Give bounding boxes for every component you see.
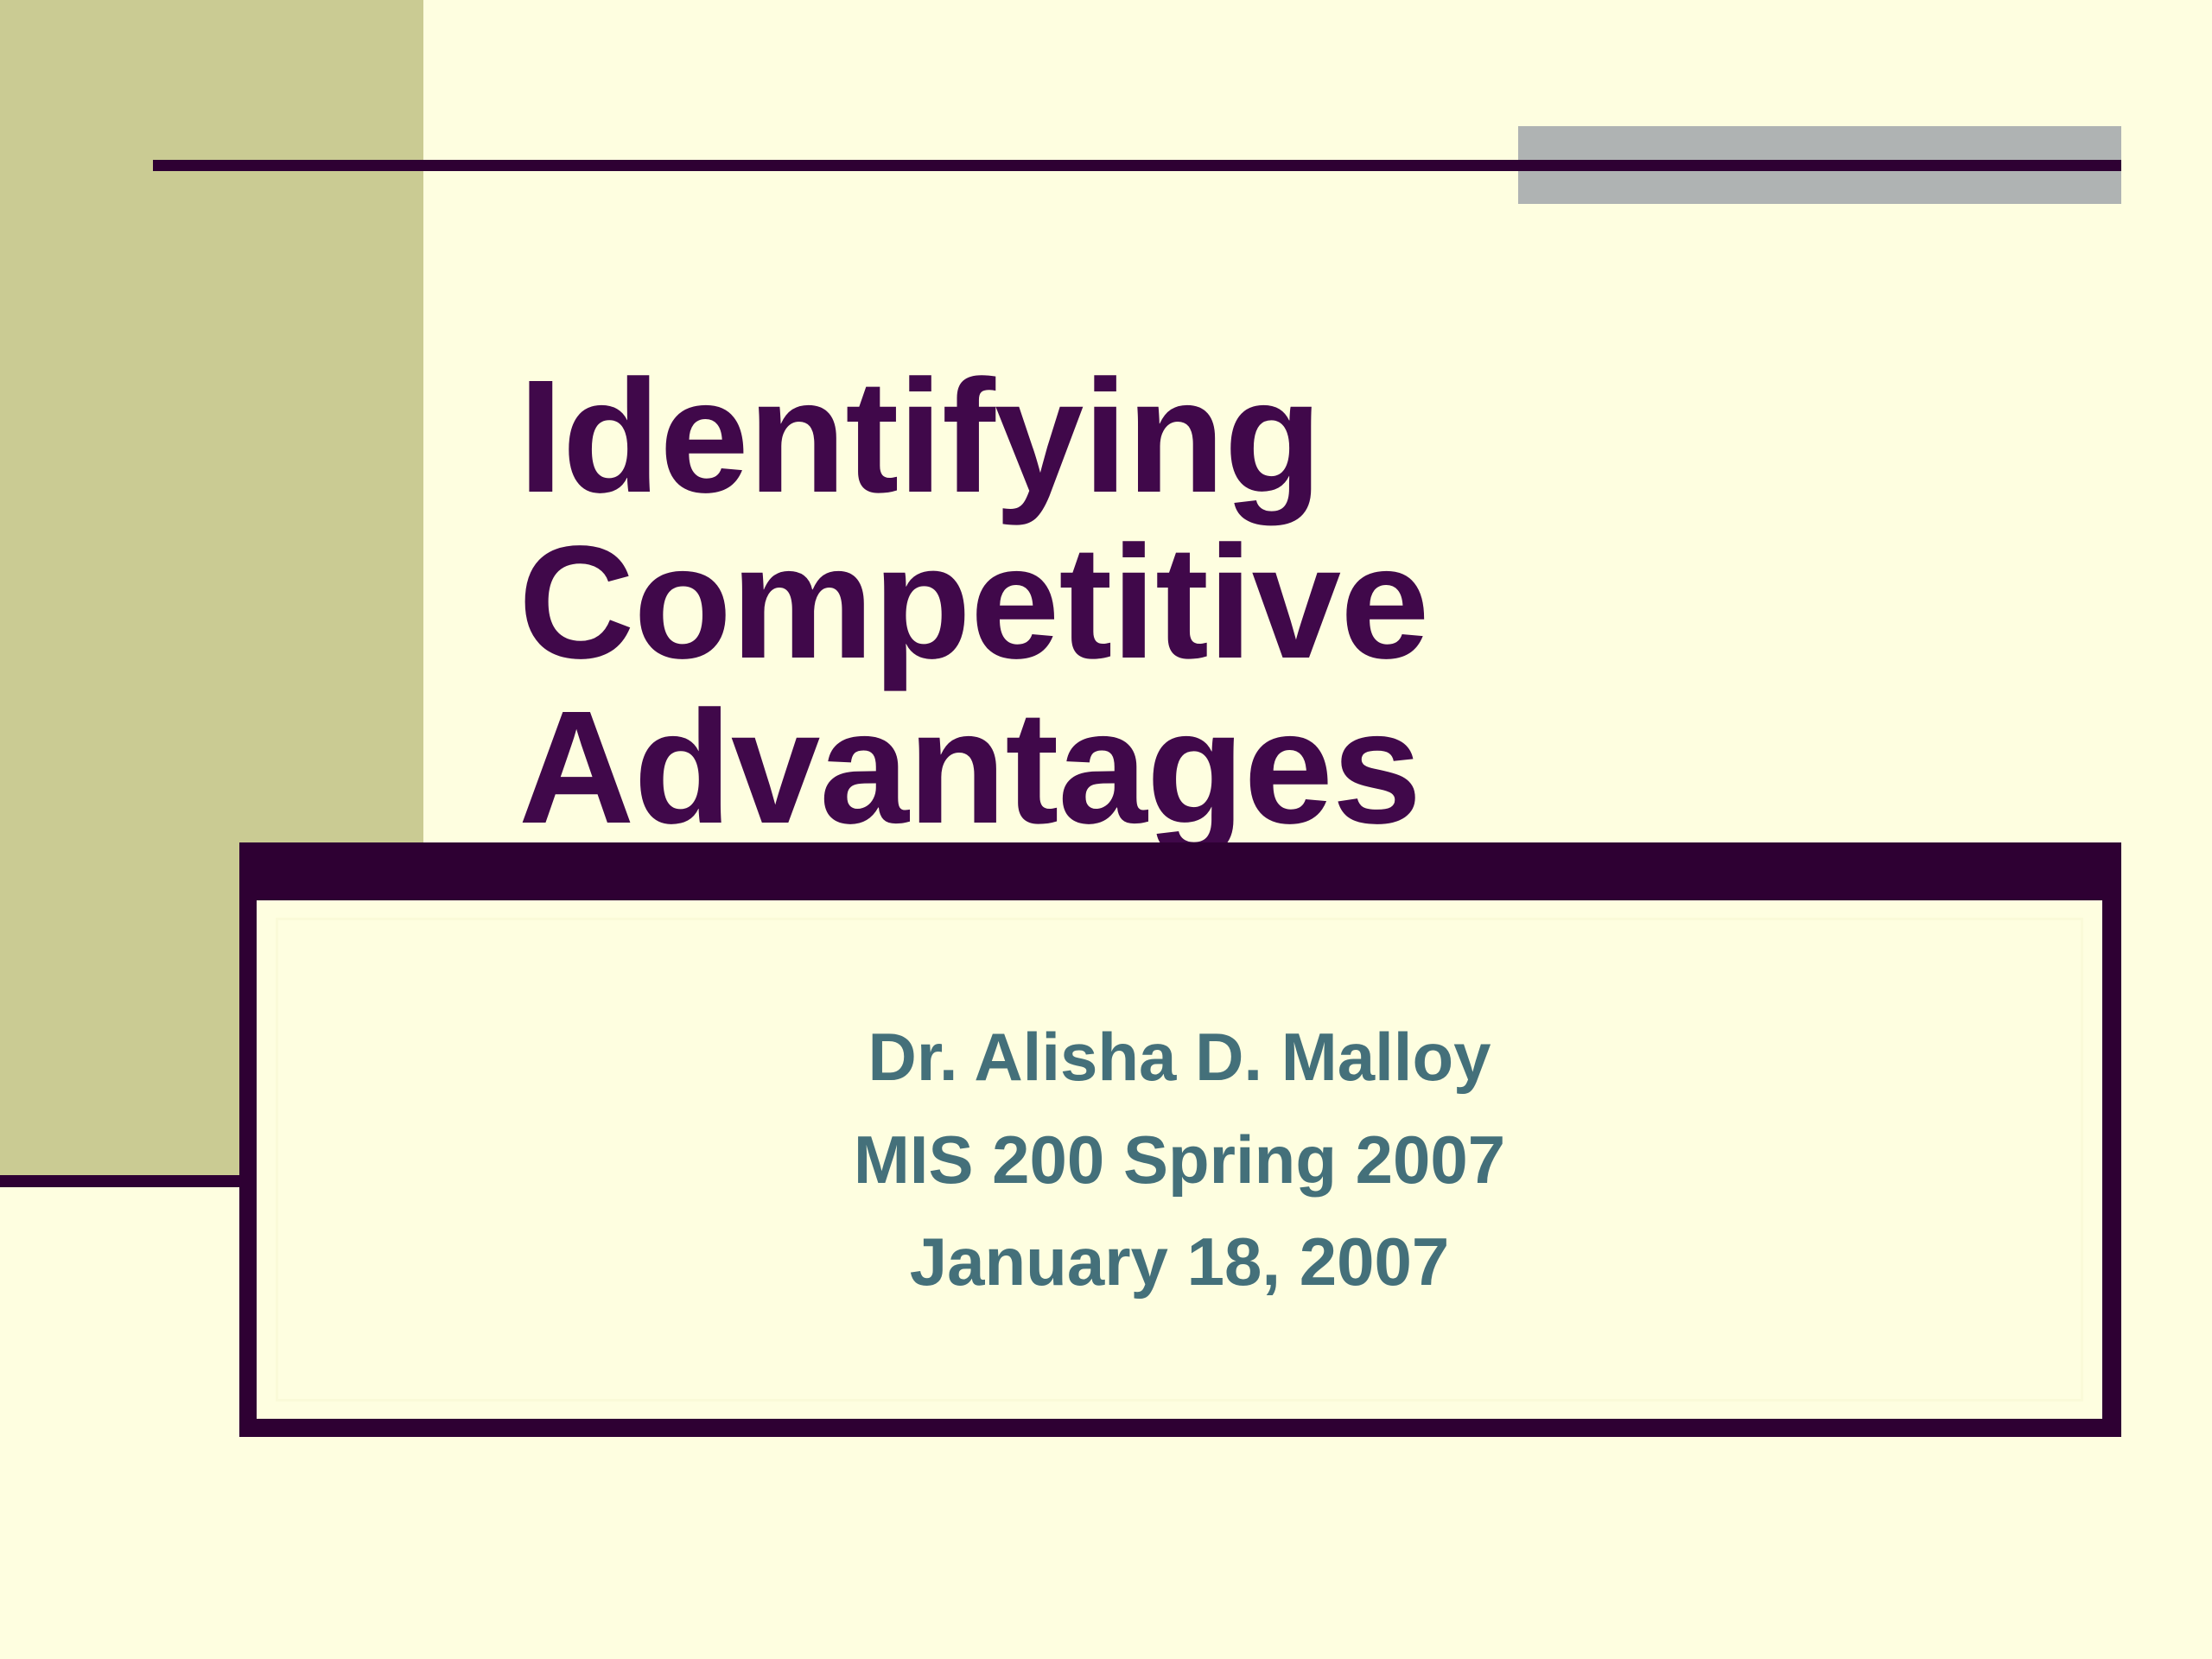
presentation-slide: Identifying Competitive Advantages Dr. A… [0, 0, 2212, 1659]
decorative-left-rule [0, 1175, 239, 1187]
slide-title: Identifying Competitive Advantages [518, 354, 2074, 851]
slide-title-block: Identifying Competitive Advantages [518, 354, 2074, 851]
decorative-top-rule [153, 160, 2121, 171]
presentation-date: January 18, 2007 [910, 1211, 1449, 1313]
course-label: MIS 200 Spring 2007 [854, 1109, 1505, 1211]
subtitle-frame: Dr. Alisha D. Malloy MIS 200 Spring 2007… [239, 842, 2121, 1437]
presenter-name: Dr. Alisha D. Malloy [868, 1006, 1491, 1109]
subtitle-content: Dr. Alisha D. Malloy MIS 200 Spring 2007… [257, 900, 2102, 1419]
